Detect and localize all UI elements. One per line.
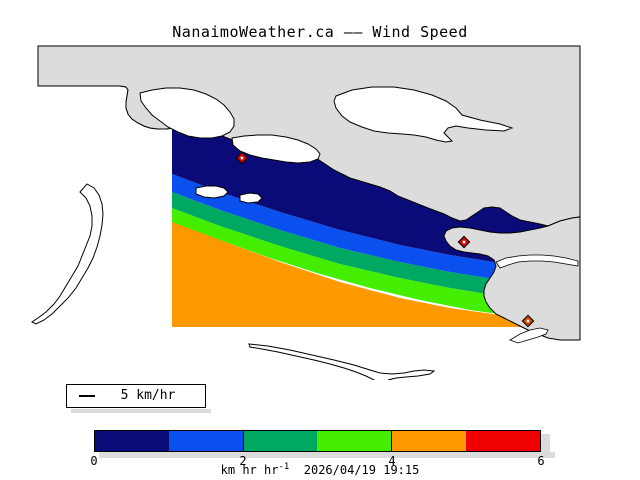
units-exponent: -1 — [278, 462, 289, 472]
scale-legend-shadow — [71, 409, 211, 413]
colorbar-wrap: 0246 — [94, 430, 541, 452]
page-title: NanaimoWeather.ca —— Wind Speed — [0, 23, 640, 41]
colorbar[interactable] — [94, 430, 541, 452]
colorbar-segment-5-6 — [466, 431, 540, 451]
wind-speed-map-page: NanaimoWeather.ca —— Wind Speed — [0, 0, 640, 480]
map-panel[interactable] — [0, 40, 640, 380]
inland-notch-shore-2-overlay — [240, 193, 262, 203]
colorbar-segment-4-5 — [391, 431, 466, 451]
colorbar-segment-0-1 — [95, 431, 169, 451]
colorbar-shadow — [99, 452, 555, 458]
colorbar-segment-3-4 — [317, 431, 391, 451]
inland-notch-shore-overlay — [196, 186, 228, 198]
colorbar-segment-1-2 — [169, 431, 243, 451]
colorbar-segment-2-3 — [243, 431, 318, 451]
scale-legend-label: 5 km/hr — [67, 388, 207, 403]
map-svg[interactable] — [0, 40, 640, 380]
colorbar-units-and-timestamp: km hr hr-1 2026/04/19 19:15 — [0, 462, 640, 477]
scale-legend-box: 5 km/hr — [66, 384, 206, 408]
